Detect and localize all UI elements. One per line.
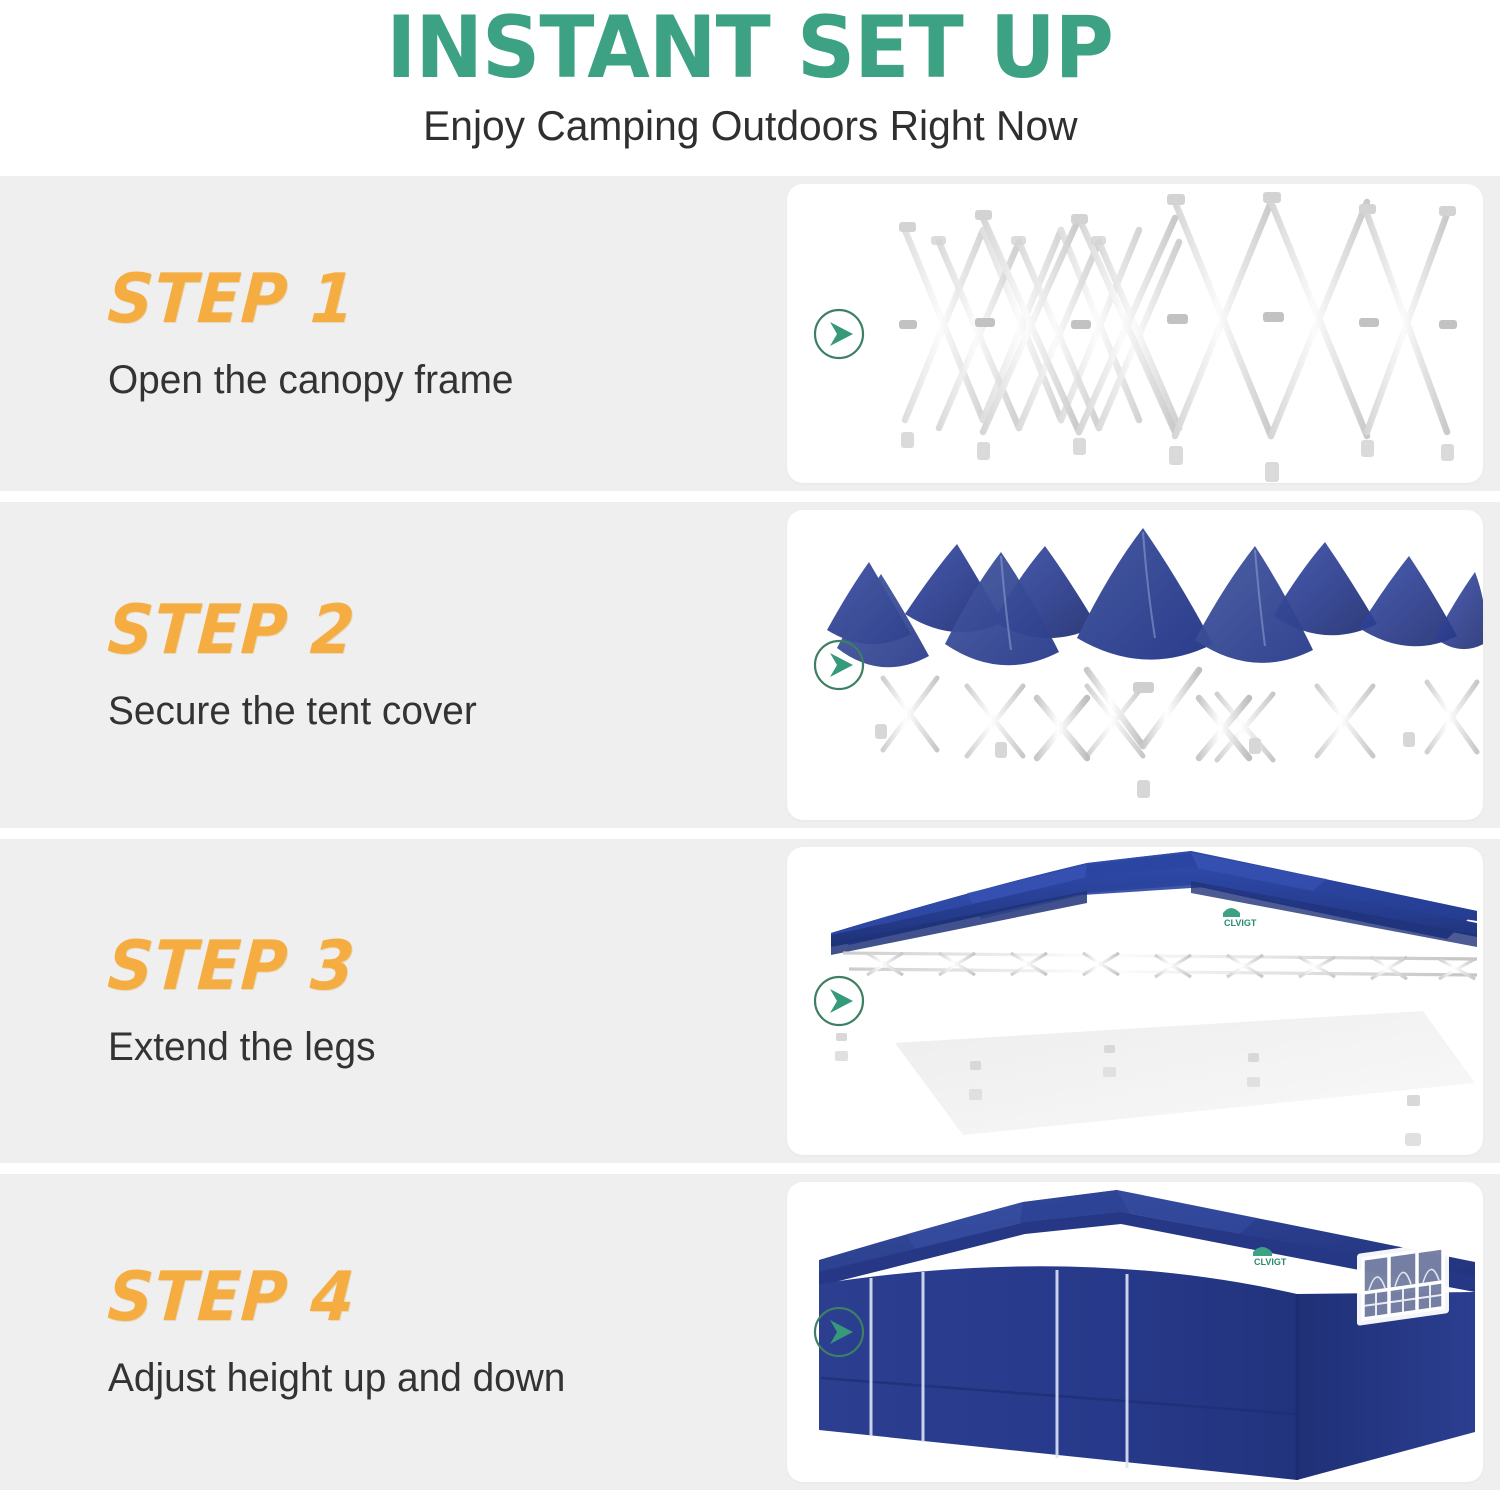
step-1-image-card [787, 184, 1483, 483]
chevron-right-circle-icon [812, 638, 866, 692]
step-3-text-block: STEP 3 Extend the legs [0, 930, 787, 1072]
brand-logo: CLVIGT [1223, 908, 1257, 928]
svg-text:CLVIGT: CLVIGT [1224, 918, 1257, 928]
step-row-2: STEP 2 Secure the tent cover [0, 502, 1500, 828]
step-2-image-card [787, 510, 1483, 820]
step-1-text-block: STEP 1 Open the canopy frame [0, 263, 787, 405]
erected-canopy-illustration: CLVIGT [787, 847, 1483, 1155]
page-title: INSTANT SET UP [387, 2, 1114, 94]
enclosed-canopy-illustration: CLVIGT [787, 1182, 1483, 1482]
step-3-description: Extend the legs [108, 1022, 767, 1072]
step-4-label: STEP 4 [106, 1261, 735, 1335]
steps-list: STEP 1 Open the canopy frame [0, 176, 1500, 1490]
sidewall-window [1357, 1241, 1449, 1326]
step-row-4: STEP 4 Adjust height up and down [0, 1174, 1500, 1490]
step-1-label: STEP 1 [106, 263, 735, 337]
step-row-1: STEP 1 Open the canopy frame [0, 176, 1500, 491]
step-4-description: Adjust height up and down [108, 1353, 767, 1403]
step-4-text-block: STEP 4 Adjust height up and down [0, 1261, 787, 1403]
step-row-3: STEP 3 Extend the legs [0, 839, 1500, 1163]
tent-cover-illustration [787, 510, 1483, 820]
chevron-right-circle-icon [812, 1305, 866, 1359]
canopy-frame-illustration [787, 184, 1483, 483]
step-2-text-block: STEP 2 Secure the tent cover [0, 594, 787, 736]
step-4-image-card: CLVIGT [787, 1182, 1483, 1482]
step-2-label: STEP 2 [106, 594, 735, 668]
step-1-description: Open the canopy frame [108, 355, 767, 405]
step-3-label: STEP 3 [106, 930, 735, 1004]
page-header: INSTANT SET UP Enjoy Camping Outdoors Ri… [0, 0, 1500, 176]
page-subtitle: Enjoy Camping Outdoors Right Now [423, 100, 1077, 152]
chevron-right-circle-icon [812, 307, 866, 361]
step-3-image-card: CLVIGT [787, 847, 1483, 1155]
chevron-right-circle-icon [812, 974, 866, 1028]
svg-text:CLVIGT: CLVIGT [1254, 1257, 1287, 1267]
step-2-description: Secure the tent cover [108, 686, 767, 736]
